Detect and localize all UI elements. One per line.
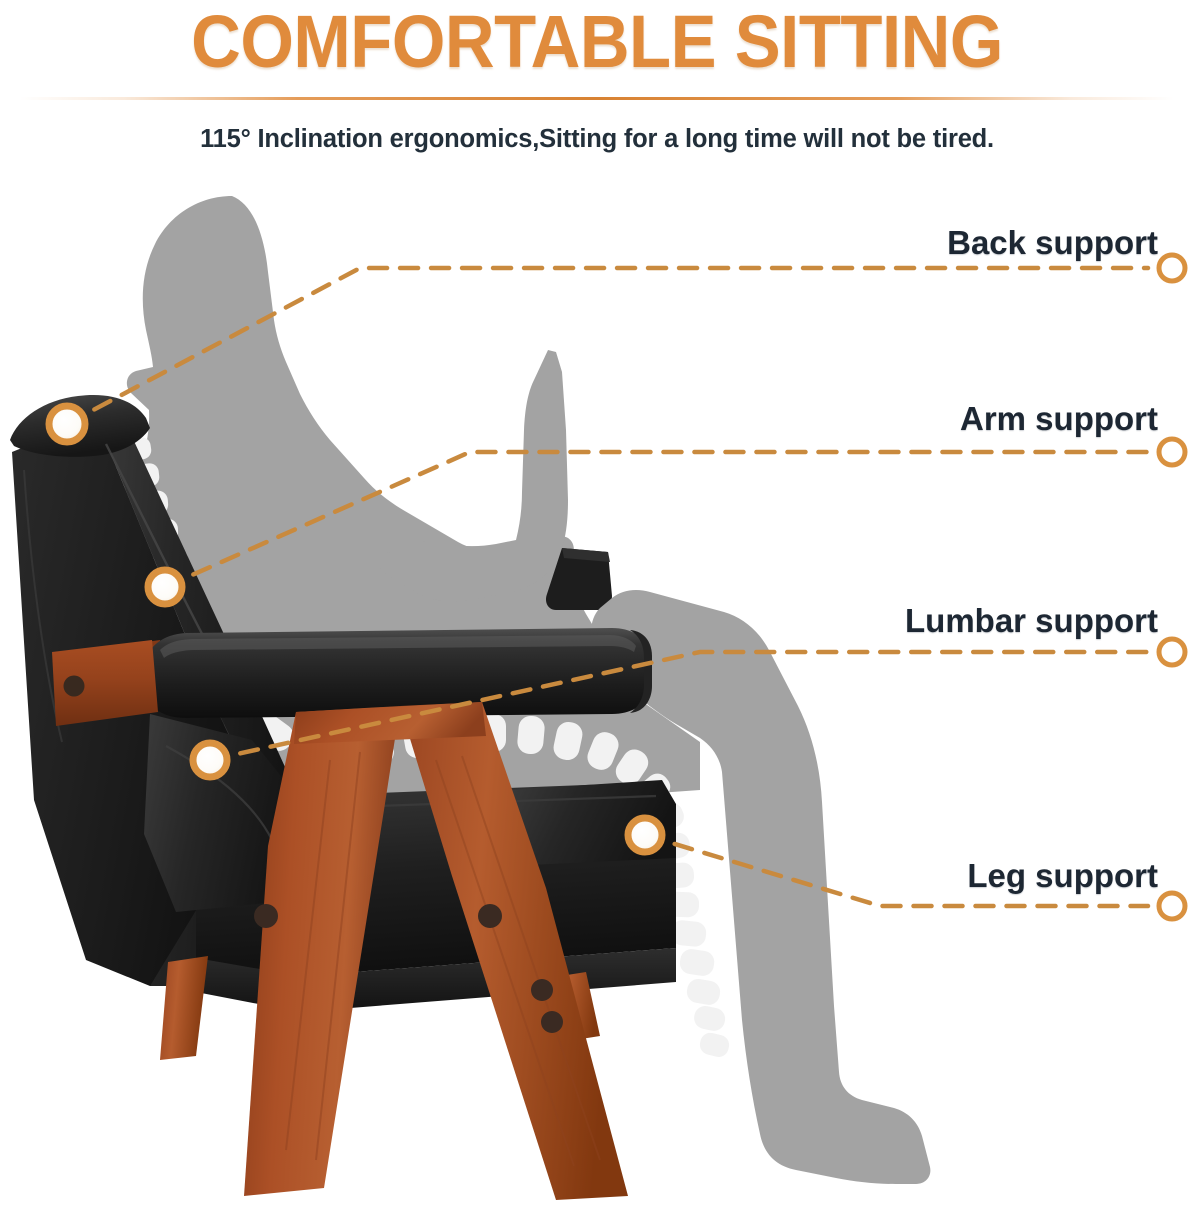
end-ring-back-support[interactable]	[1159, 255, 1185, 281]
end-ring-lumbar-support[interactable]	[1159, 639, 1185, 665]
product-illustration	[0, 0, 1194, 1228]
anchor-dot-lumbar-support[interactable]	[193, 743, 227, 777]
anchor-dot-arm-support[interactable]	[148, 570, 182, 604]
end-ring-leg-support[interactable]	[1159, 893, 1185, 919]
silhouette-arm	[380, 350, 568, 602]
leg-screw-right-upper	[478, 904, 502, 928]
anchor-dot-leg-support[interactable]	[628, 818, 662, 852]
infographic-page: COMFORTABLE SITTING 115° Inclination erg…	[0, 0, 1194, 1228]
end-ring-arm-support[interactable]	[1159, 439, 1185, 465]
leader-line-leg-support	[645, 835, 1148, 906]
callout-end-rings	[1159, 255, 1185, 919]
leg-screw-right-lower	[541, 1011, 563, 1033]
leg-screw-left	[254, 904, 278, 928]
anchor-dot-back-support[interactable]	[49, 406, 85, 442]
armrest-support-screw	[64, 676, 85, 697]
leg-screw-right-mid	[531, 979, 553, 1001]
